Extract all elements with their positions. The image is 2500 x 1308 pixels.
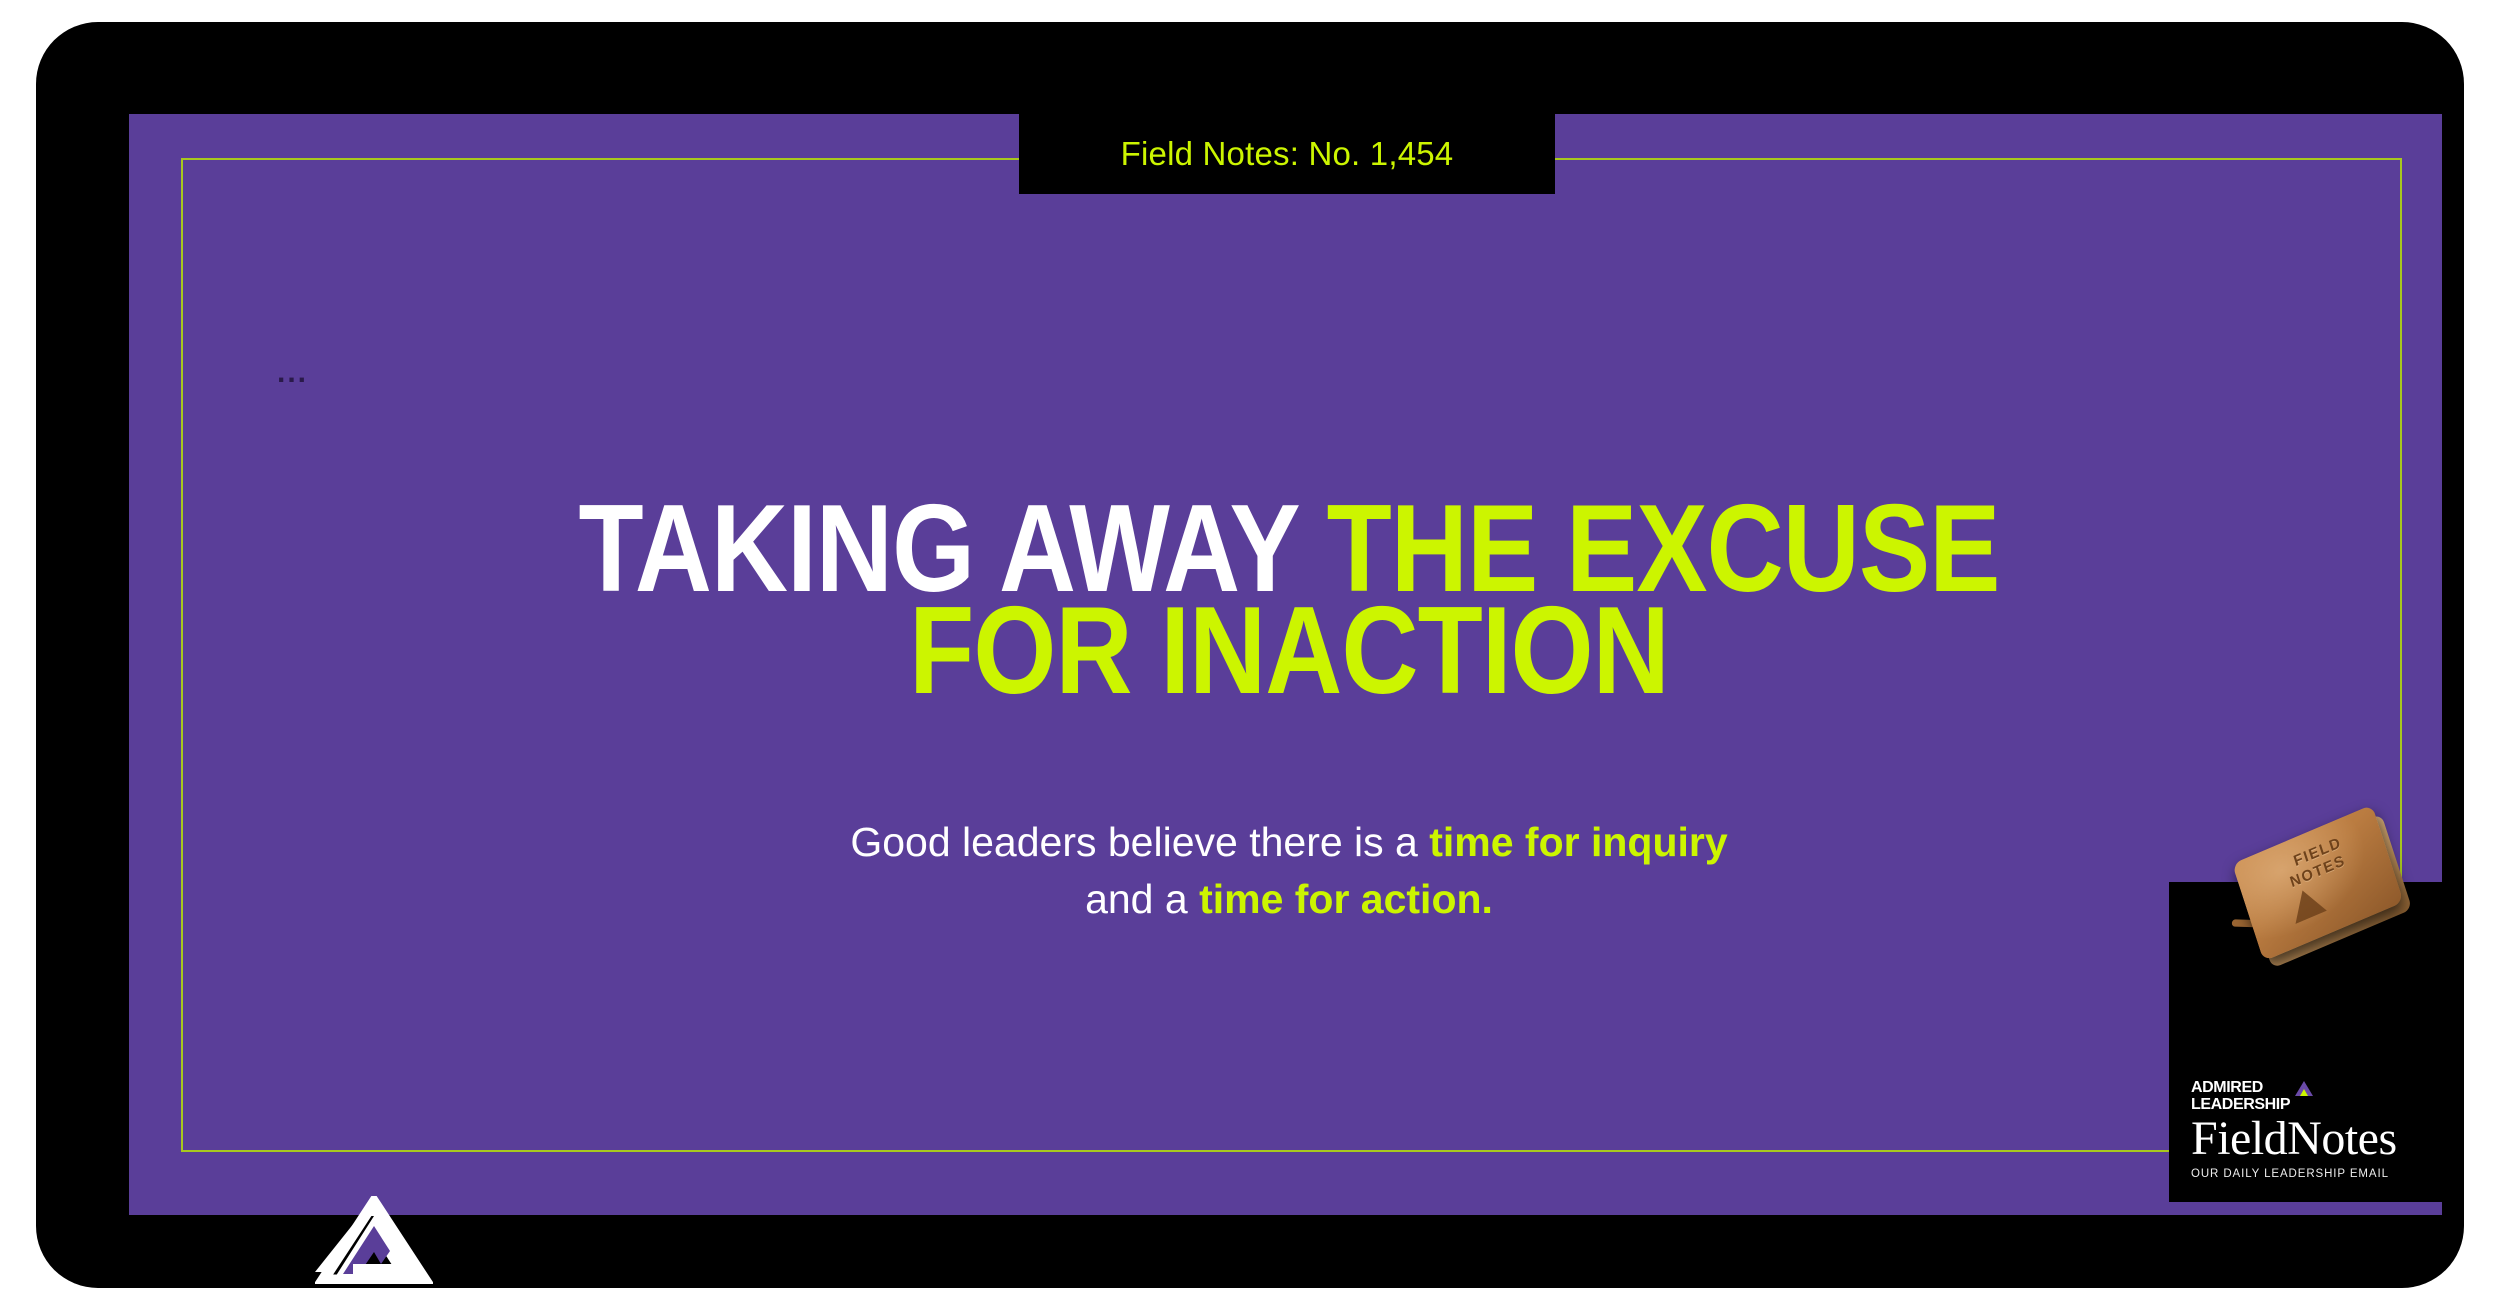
notebook-cover: FIELD NOTES	[2232, 805, 2404, 962]
brand-line-1: ADMIRED	[2191, 1080, 2290, 1096]
presentation-slide: ... TAKING AWAY THE EXCUSE FOR INACTION …	[129, 114, 2442, 1215]
subtitle-text-2: and a	[1085, 876, 1199, 922]
triangle-logo-icon	[2295, 1081, 2313, 1096]
brand-line-2: LEADERSHIP	[2191, 1097, 2290, 1113]
page-title: TAKING AWAY THE EXCUSE FOR INACTION	[549, 499, 2028, 702]
device-bezel: ... TAKING AWAY THE EXCUSE FOR INACTION …	[36, 22, 2464, 1288]
product-tagline: OUR DAILY LEADERSHIP EMAIL	[2191, 1168, 2441, 1180]
admired-leadership-wordmark: ADMIRED LEADERSHIP	[2191, 1080, 2441, 1113]
leather-notebook-icon: FIELD NOTES	[2232, 801, 2416, 976]
subtitle-text-1: Good leaders believe there is a	[850, 819, 1429, 865]
product-name: FieldNotes	[2191, 1115, 2441, 1163]
overflow-menu-icon[interactable]: ...	[277, 368, 308, 378]
brand-lockup: ADMIRED LEADERSHIP FieldNotes OUR DAILY …	[2191, 1080, 2441, 1180]
admired-leadership-text: ADMIRED LEADERSHIP	[2191, 1080, 2290, 1113]
subtitle-emphasis-1: time for inquiry	[1429, 819, 1727, 865]
subtitle: Good leaders believe there is a time for…	[559, 814, 2019, 927]
subtitle-emphasis-2: time for action.	[1199, 876, 1493, 922]
headline-segment-accent-2: FOR INACTION	[909, 582, 1669, 720]
field-notes-promo-card[interactable]: FIELD NOTES ADMIRED LEADERSHIP FieldNote…	[2169, 882, 2459, 1202]
admired-leadership-monogram	[315, 1196, 433, 1284]
issue-number-chip: Field Notes: No. 1,454	[1019, 114, 1555, 194]
issue-number-label: Field Notes: No. 1,454	[1121, 135, 1454, 173]
